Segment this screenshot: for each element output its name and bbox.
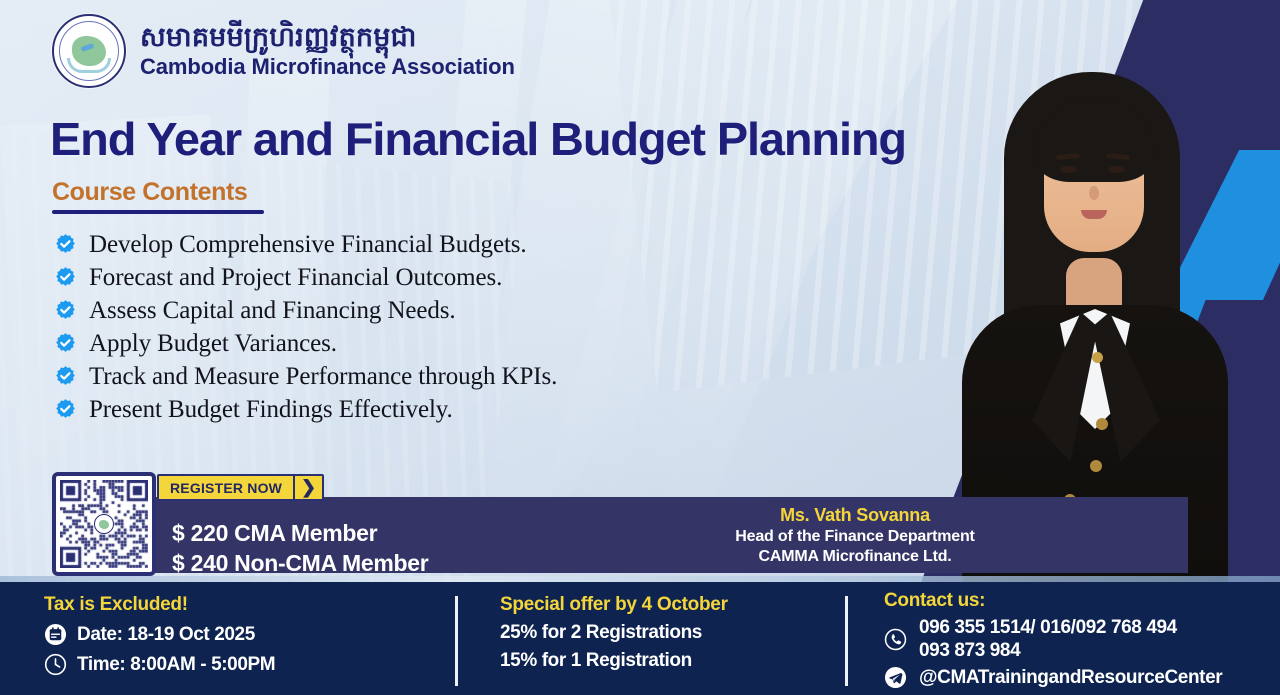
speaker-name: Ms. Vath Sovanna xyxy=(700,505,1010,526)
contact-heading: Contact us: xyxy=(884,590,1222,612)
phone-number-1: 096 355 1514/ 016/092 768 494 xyxy=(919,616,1177,639)
promotional-poster: សមាគមមីក្រូហិរញ្ញវត្ថុកម្ពុជា Cambodia M… xyxy=(0,0,1280,695)
brand-name-khmer: សមាគមមីក្រូហិរញ្ញវត្ថុកម្ពុជា xyxy=(140,22,515,53)
qr-center-logo xyxy=(94,514,114,534)
course-contents-list: Develop Comprehensive Financial Budgets.… xyxy=(54,228,557,426)
footer-contact-column: Contact us: 096 355 1514/ 016/092 768 49… xyxy=(884,590,1222,689)
register-now-label: REGISTER NOW xyxy=(159,476,293,499)
verified-check-icon xyxy=(54,233,77,256)
tax-notice: Tax is Excluded! xyxy=(44,594,275,616)
footer-date-column: Tax is Excluded! Date: 18-19 Oct 2025 Ti… xyxy=(44,594,275,676)
footer-top-sheen xyxy=(0,576,1280,582)
speaker-organization: CAMMA Microfinance Ltd. xyxy=(700,548,1010,566)
list-item-label: Develop Comprehensive Financial Budgets. xyxy=(89,231,527,259)
event-time-row: Time: 8:00AM - 5:00PM xyxy=(44,653,275,676)
list-item: Forecast and Project Financial Outcomes. xyxy=(54,261,557,294)
speaker-role: Head of the Finance Department xyxy=(700,528,1010,546)
page-title: End Year and Financial Budget Planning xyxy=(50,112,906,166)
register-now-button[interactable]: REGISTER NOW ❯ xyxy=(157,474,324,501)
event-date: Date: 18-19 Oct 2025 xyxy=(77,624,255,646)
verified-check-icon xyxy=(54,398,77,421)
offer-line-1: 25% for 2 Registrations xyxy=(500,622,728,644)
verified-check-icon xyxy=(54,299,77,322)
list-item-label: Track and Measure Performance through KP… xyxy=(89,363,557,391)
list-item: Assess Capital and Financing Needs. xyxy=(54,294,557,327)
course-contents-underline xyxy=(52,210,264,214)
calendar-icon xyxy=(44,623,67,646)
price-non-member: $ 240 Non-CMA Member xyxy=(172,548,428,578)
telegram-icon xyxy=(884,666,907,689)
qr-code-icon[interactable] xyxy=(52,472,156,576)
telegram-handle: @CMATrainingandResourceCenter xyxy=(919,667,1222,689)
verified-check-icon xyxy=(54,332,77,355)
telegram-row[interactable]: @CMATrainingandResourceCenter xyxy=(884,666,1222,689)
phone-number-2: 093 873 984 xyxy=(919,639,1177,662)
list-item-label: Assess Capital and Financing Needs. xyxy=(89,297,456,325)
speaker-info: Ms. Vath Sovanna Head of the Finance Dep… xyxy=(700,505,1010,566)
verified-check-icon xyxy=(54,266,77,289)
course-contents-heading: Course Contents xyxy=(52,178,247,207)
phone-row[interactable]: 096 355 1514/ 016/092 768 494 093 873 98… xyxy=(884,616,1222,662)
offer-line-2: 15% for 1 Registration xyxy=(500,650,728,672)
brand-logo: សមាគមមីក្រូហិរញ្ញវត្ថុកម្ពុជា Cambodia M… xyxy=(52,14,515,88)
special-offer-heading: Special offer by 4 October xyxy=(500,594,728,616)
cma-logo-icon xyxy=(52,14,126,88)
list-item: Present Budget Findings Effectively. xyxy=(54,393,557,426)
brand-name-english: Cambodia Microfinance Association xyxy=(140,54,515,80)
footer-divider-2 xyxy=(845,596,848,686)
footer-divider-1 xyxy=(455,596,458,686)
pricing-text: $ 220 CMA Member $ 240 Non-CMA Member xyxy=(172,518,428,579)
price-member: $ 220 CMA Member xyxy=(172,518,428,548)
event-date-row: Date: 18-19 Oct 2025 xyxy=(44,623,275,646)
list-item-label: Present Budget Findings Effectively. xyxy=(89,396,453,424)
list-item: Apply Budget Variances. xyxy=(54,327,557,360)
list-item: Develop Comprehensive Financial Budgets. xyxy=(54,228,557,261)
list-item: Track and Measure Performance through KP… xyxy=(54,360,557,393)
event-time: Time: 8:00AM - 5:00PM xyxy=(77,654,275,676)
chevron-right-icon[interactable]: ❯ xyxy=(295,476,322,499)
footer-offer-column: Special offer by 4 October 25% for 2 Reg… xyxy=(500,594,728,672)
verified-check-icon xyxy=(54,365,77,388)
clock-icon xyxy=(44,653,67,676)
phone-icon xyxy=(884,628,907,651)
list-item-label: Forecast and Project Financial Outcomes. xyxy=(89,264,502,292)
list-item-label: Apply Budget Variances. xyxy=(89,330,337,358)
